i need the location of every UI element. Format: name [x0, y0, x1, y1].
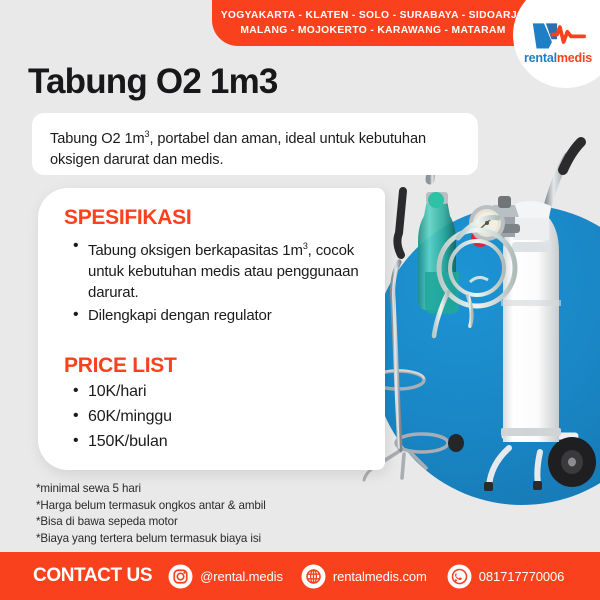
logo-wordmark: rentalmedis	[524, 51, 592, 65]
cities-line-2: MALANG - MOJOKERTO - KARAWANG - MATARAM	[240, 23, 505, 38]
spec-price-card: SPESIFIKASI Tabung oksigen berkapasitas …	[38, 188, 385, 470]
cart-handle-bar	[546, 156, 568, 212]
note-line: *Harga belum termasuk ongkos antar & amb…	[36, 498, 266, 515]
price-item: 150K/bulan	[88, 430, 367, 453]
contact-instagram[interactable]: @rental.medis	[168, 564, 283, 589]
price-item: 60K/minggu	[88, 405, 367, 428]
contact-bar: CONTACT US @rental.medis rentalmedis.com	[0, 552, 600, 600]
cities-banner: YOGYAKARTA - KLATEN - SOLO - SURABAYA - …	[212, 0, 542, 46]
instagram-icon	[168, 564, 193, 589]
spec-item: Tabung oksigen berkapasitas 1m3, cocok u…	[88, 236, 367, 303]
price-list: 10K/hari 60K/minggu 150K/bulan	[64, 380, 367, 453]
logo-word-rental: rental	[524, 51, 557, 65]
cart-handle-grip	[563, 142, 581, 170]
brand-logo: rentalmedis	[513, 0, 600, 88]
description-line-1a: Tabung O2 1m	[50, 131, 145, 147]
contact-whatsapp[interactable]: 081717770006	[447, 564, 565, 589]
spec-list: Tabung oksigen berkapasitas 1m3, cocok u…	[64, 236, 367, 326]
note-line: *Bisa di bawa sepeda motor	[36, 514, 266, 531]
description-line-1b: , portabel dan aman, ideal untuk	[149, 131, 354, 147]
contact-whatsapp-text: 081717770006	[479, 569, 565, 584]
note-line: *Biaya yang tertera belum termasuk biaya…	[36, 531, 266, 548]
spec-item-text-a: Dilengkapi dengan regulator	[88, 307, 272, 324]
cities-line-1: YOGYAKARTA - KLATEN - SOLO - SURABAYA - …	[221, 8, 526, 23]
notes-block: *minimal sewa 5 hari *Harga belum termas…	[36, 481, 266, 547]
spec-item-text-a: Tabung oksigen berkapasitas 1m	[88, 242, 303, 259]
contact-website-text: rentalmedis.com	[333, 569, 427, 584]
description-box: Tabung O2 1m3, portabel dan aman, ideal …	[32, 113, 478, 175]
bottle-green-knob	[428, 192, 444, 208]
contact-us-title: CONTACT US	[33, 565, 152, 587]
whatsapp-icon	[447, 564, 472, 589]
page-title: Tabung O2 1m3	[28, 60, 278, 104]
trolley-handle-grip	[397, 191, 403, 255]
globe-icon	[301, 564, 326, 589]
logo-word-medis: medis	[557, 51, 592, 65]
price-heading: PRICE LIST	[64, 354, 367, 378]
promo-poster: YOGYAKARTA - KLATEN - SOLO - SURABAYA - …	[0, 0, 600, 600]
note-line: *minimal sewa 5 hari	[36, 481, 266, 498]
contact-instagram-text: @rental.medis	[200, 569, 283, 584]
spec-item: Dilengkapi dengan regulator	[88, 305, 367, 326]
blue-circle-backdrop	[372, 205, 600, 505]
price-item: 10K/hari	[88, 380, 367, 403]
description-text: Tabung O2 1m3, portabel dan aman, ideal …	[50, 124, 460, 171]
rentalmedis-v-pulse-icon	[530, 20, 586, 50]
spec-heading: SPESIFIKASI	[64, 206, 367, 230]
contact-website[interactable]: rentalmedis.com	[301, 564, 427, 589]
